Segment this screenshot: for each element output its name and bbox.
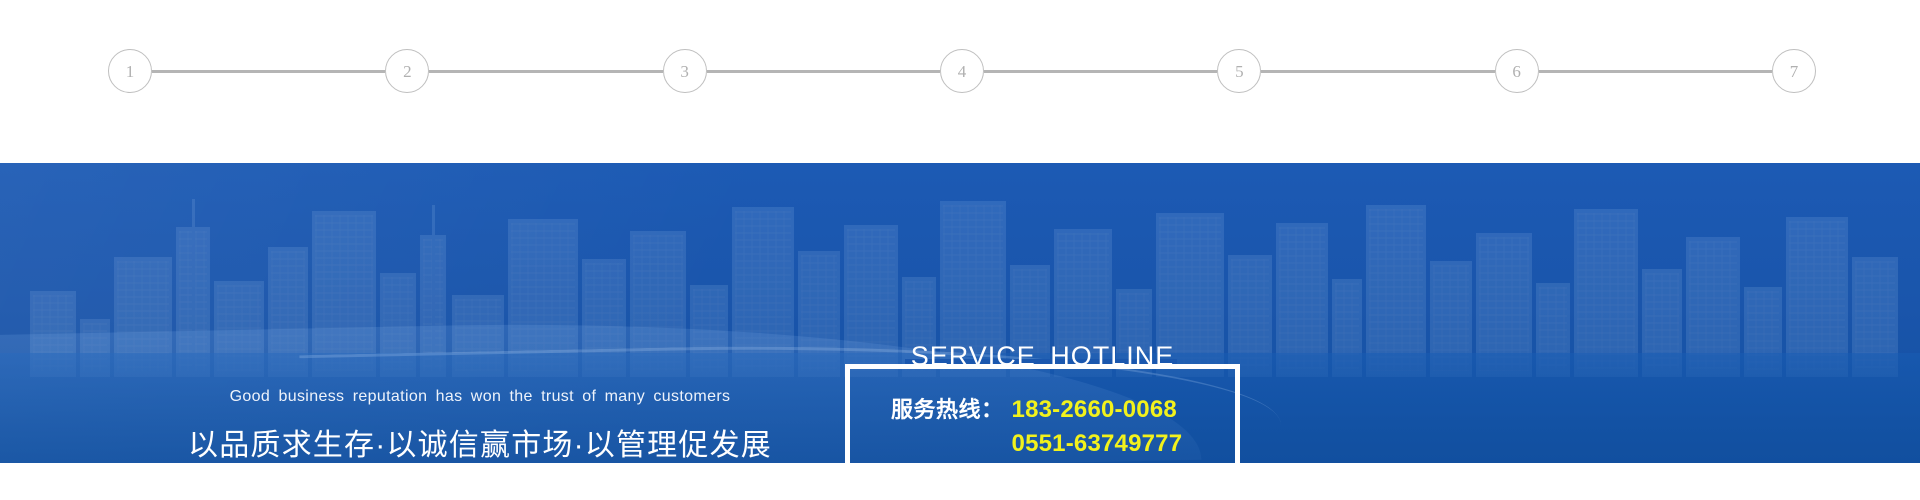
step-connector-5-6 <box>1261 70 1494 73</box>
hotline-number-primary[interactable]: 183-2660-0068 <box>1012 396 1177 424</box>
step-node-2[interactable]: 2 <box>385 49 429 93</box>
slogan-headline: 以品质求生存·以诚信赢市场·以管理促发展 <box>188 420 772 463</box>
step-label: 4 <box>958 63 967 80</box>
hotline-title: SERVICE HOTLINE <box>845 343 1240 370</box>
slogan-english: Good business reputation has won the tru… <box>230 388 731 406</box>
slogan-block: Good business reputation has won the tru… <box>0 326 960 463</box>
step-label: 2 <box>403 63 412 80</box>
step-node-7[interactable]: 7 <box>1772 49 1816 93</box>
step-connector-1-2 <box>152 70 385 73</box>
step-node-6[interactable]: 6 <box>1495 49 1539 93</box>
hotline-row-secondary: 服务热线： 0551-63749777 <box>845 426 1240 458</box>
step-label: 3 <box>680 63 689 80</box>
step-node-5[interactable]: 5 <box>1217 49 1261 93</box>
step-label: 7 <box>1790 63 1799 80</box>
step-label: 1 <box>126 63 135 80</box>
step-node-1[interactable]: 1 <box>108 49 152 93</box>
step-connector-2-3 <box>429 70 662 73</box>
hotline-number-list: 服务热线： 183-2660-0068 服务热线： 0551-63749777 <box>845 392 1240 458</box>
stepper-strip: 1 2 3 4 5 6 7 <box>0 0 1920 163</box>
step-label: 6 <box>1512 63 1521 80</box>
step-label: 5 <box>1235 63 1244 80</box>
step-progress-bar: 1 2 3 4 5 6 7 <box>108 49 1816 93</box>
promo-banner: Good business reputation has won the tru… <box>0 163 1920 463</box>
step-node-3[interactable]: 3 <box>663 49 707 93</box>
hotline-label: 服务热线： <box>891 392 1004 424</box>
step-node-4[interactable]: 4 <box>940 49 984 93</box>
step-connector-3-4 <box>707 70 940 73</box>
service-hotline-box: SERVICE HOTLINE 服务热线： 183-2660-0068 服务热线… <box>845 364 1240 463</box>
step-connector-6-7 <box>1539 70 1772 73</box>
hotline-number-secondary[interactable]: 0551-63749777 <box>1012 430 1183 458</box>
step-connector-4-5 <box>984 70 1217 73</box>
hotline-row-primary: 服务热线： 183-2660-0068 <box>845 392 1240 424</box>
